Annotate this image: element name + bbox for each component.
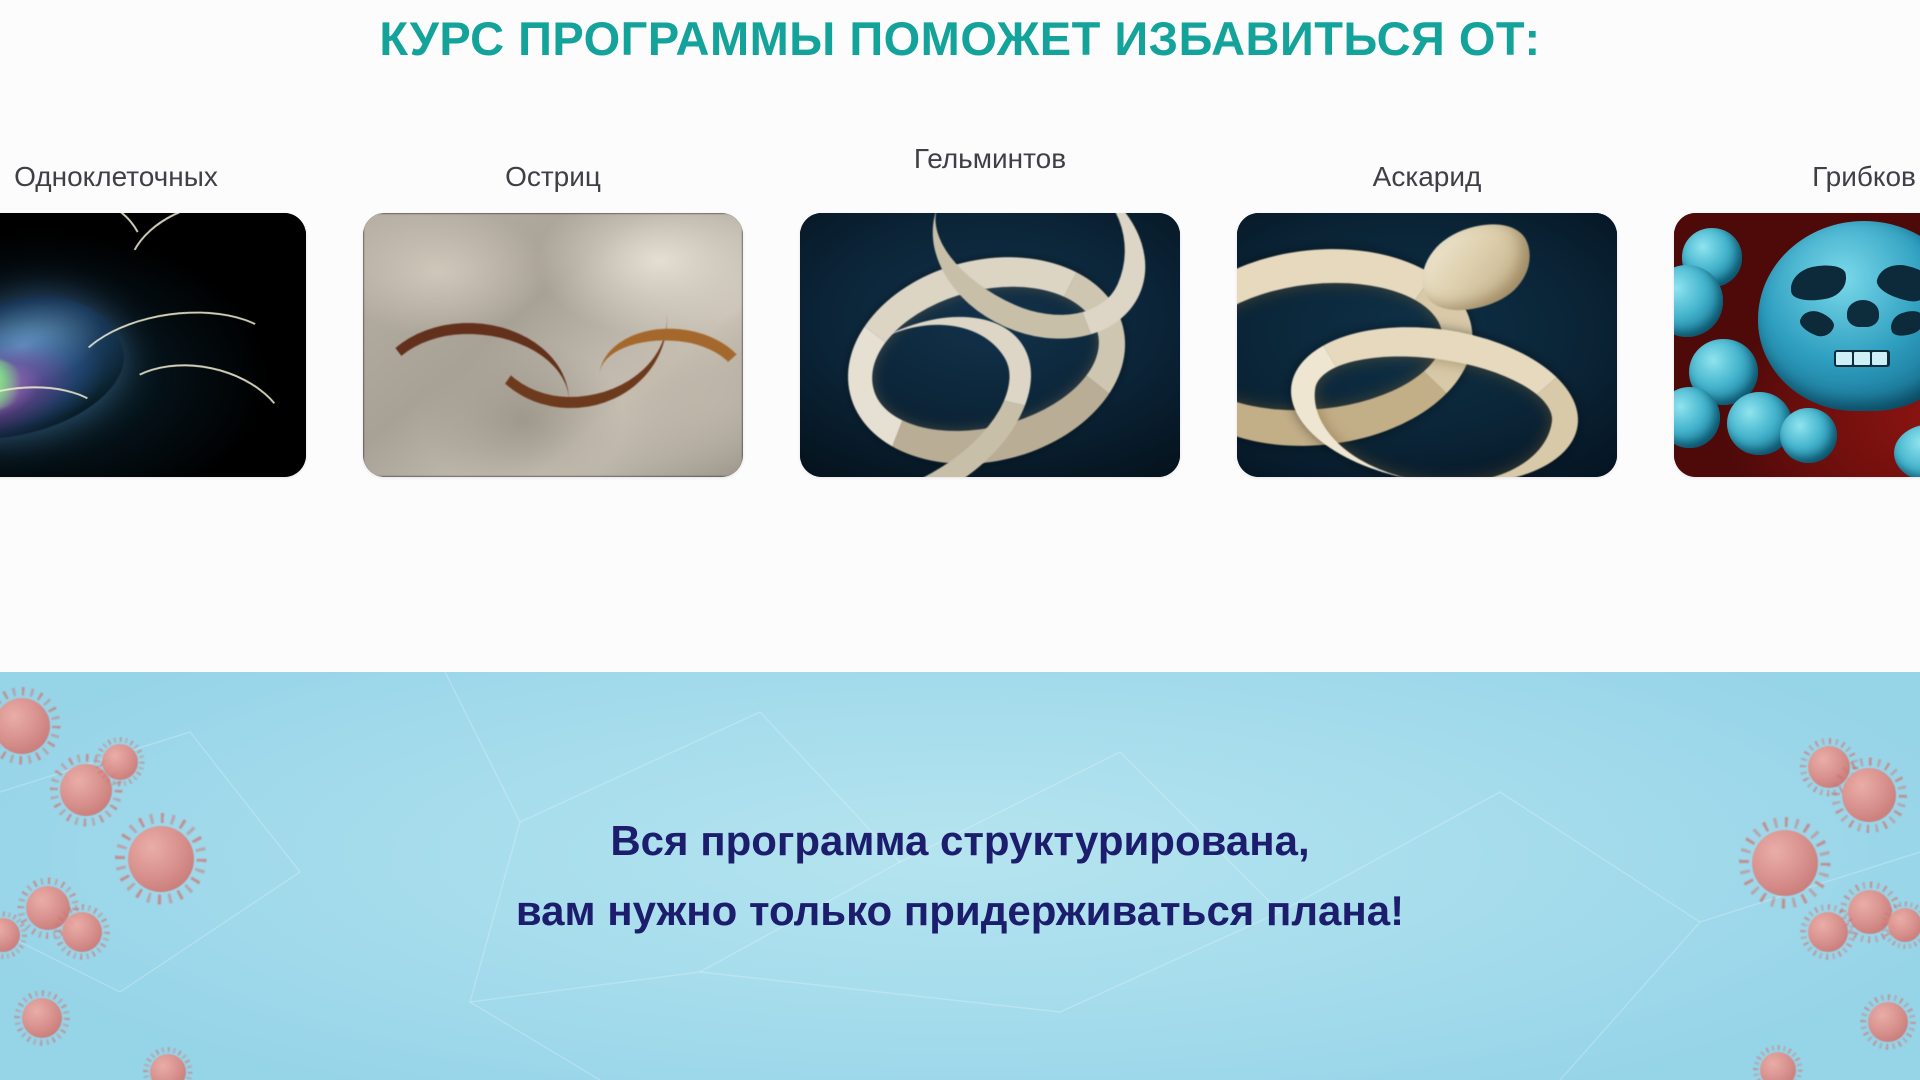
carousel-card-label: Одноклеточных [0,160,306,194]
page-title: КУРС ПРОГРАММЫ ПОМОЖЕТ ИЗБАВИТЬСЯ ОТ: [0,11,1920,66]
helminth-image [800,213,1180,477]
carousel-card-fungi[interactable]: Грибков [1674,160,1920,477]
carousel-card-protozoa[interactable]: Одноклеточных [0,160,306,477]
fungus-spore-shape [1894,424,1920,477]
ascarid-photo-art [1237,213,1617,477]
fungus-skull-shape [1758,221,1920,411]
carousel-card-pinworm[interactable]: Остриц [363,160,743,477]
banner-line-2: вам нужно только придерживаться плана! [516,885,1404,938]
program-structure-banner: Вся программа структурирована, вам нужно… [0,672,1920,1080]
banner-copy: Вся программа структурирована, вам нужно… [0,672,1920,1080]
carousel-card-label: Грибков [1674,160,1920,194]
helminth-photo-art [800,213,1180,477]
giardia-photo-art [0,213,306,477]
parasites-section: КУРС ПРОГРАММЫ ПОМОЖЕТ ИЗБАВИТЬСЯ ОТ: Од… [0,0,1920,672]
fungi-image [1674,213,1920,477]
skull-eye-icon [1787,261,1850,306]
parasite-carousel[interactable]: Одноклеточных Остриц [0,160,1920,560]
skull-cheek-icon [1797,307,1837,340]
skull-nose-icon [1847,300,1879,327]
skull-cheek-icon [1887,307,1920,340]
protozoa-giardia-image [0,213,306,477]
pinworm-image [363,213,743,477]
skull-teeth-icon [1834,350,1889,367]
carousel-card-ascarid[interactable]: Аскарид [1237,160,1617,477]
landing-page-section: КУРС ПРОГРАММЫ ПОМОЖЕТ ИЗБАВИТЬСЯ ОТ: Од… [0,0,1920,1080]
fungi-photo-art [1674,213,1920,477]
fungus-spore-shape [1780,408,1837,463]
skull-eye-icon [1874,261,1920,306]
carousel-card-label: Гельминтов [800,142,1180,176]
carousel-card-helminth[interactable]: Гельминтов [800,160,1180,477]
carousel-card-label: Аскарид [1237,160,1617,194]
ascarid-image [1237,213,1617,477]
carousel-card-label: Остриц [363,160,743,194]
banner-line-1: Вся программа структурирована, [610,815,1309,868]
